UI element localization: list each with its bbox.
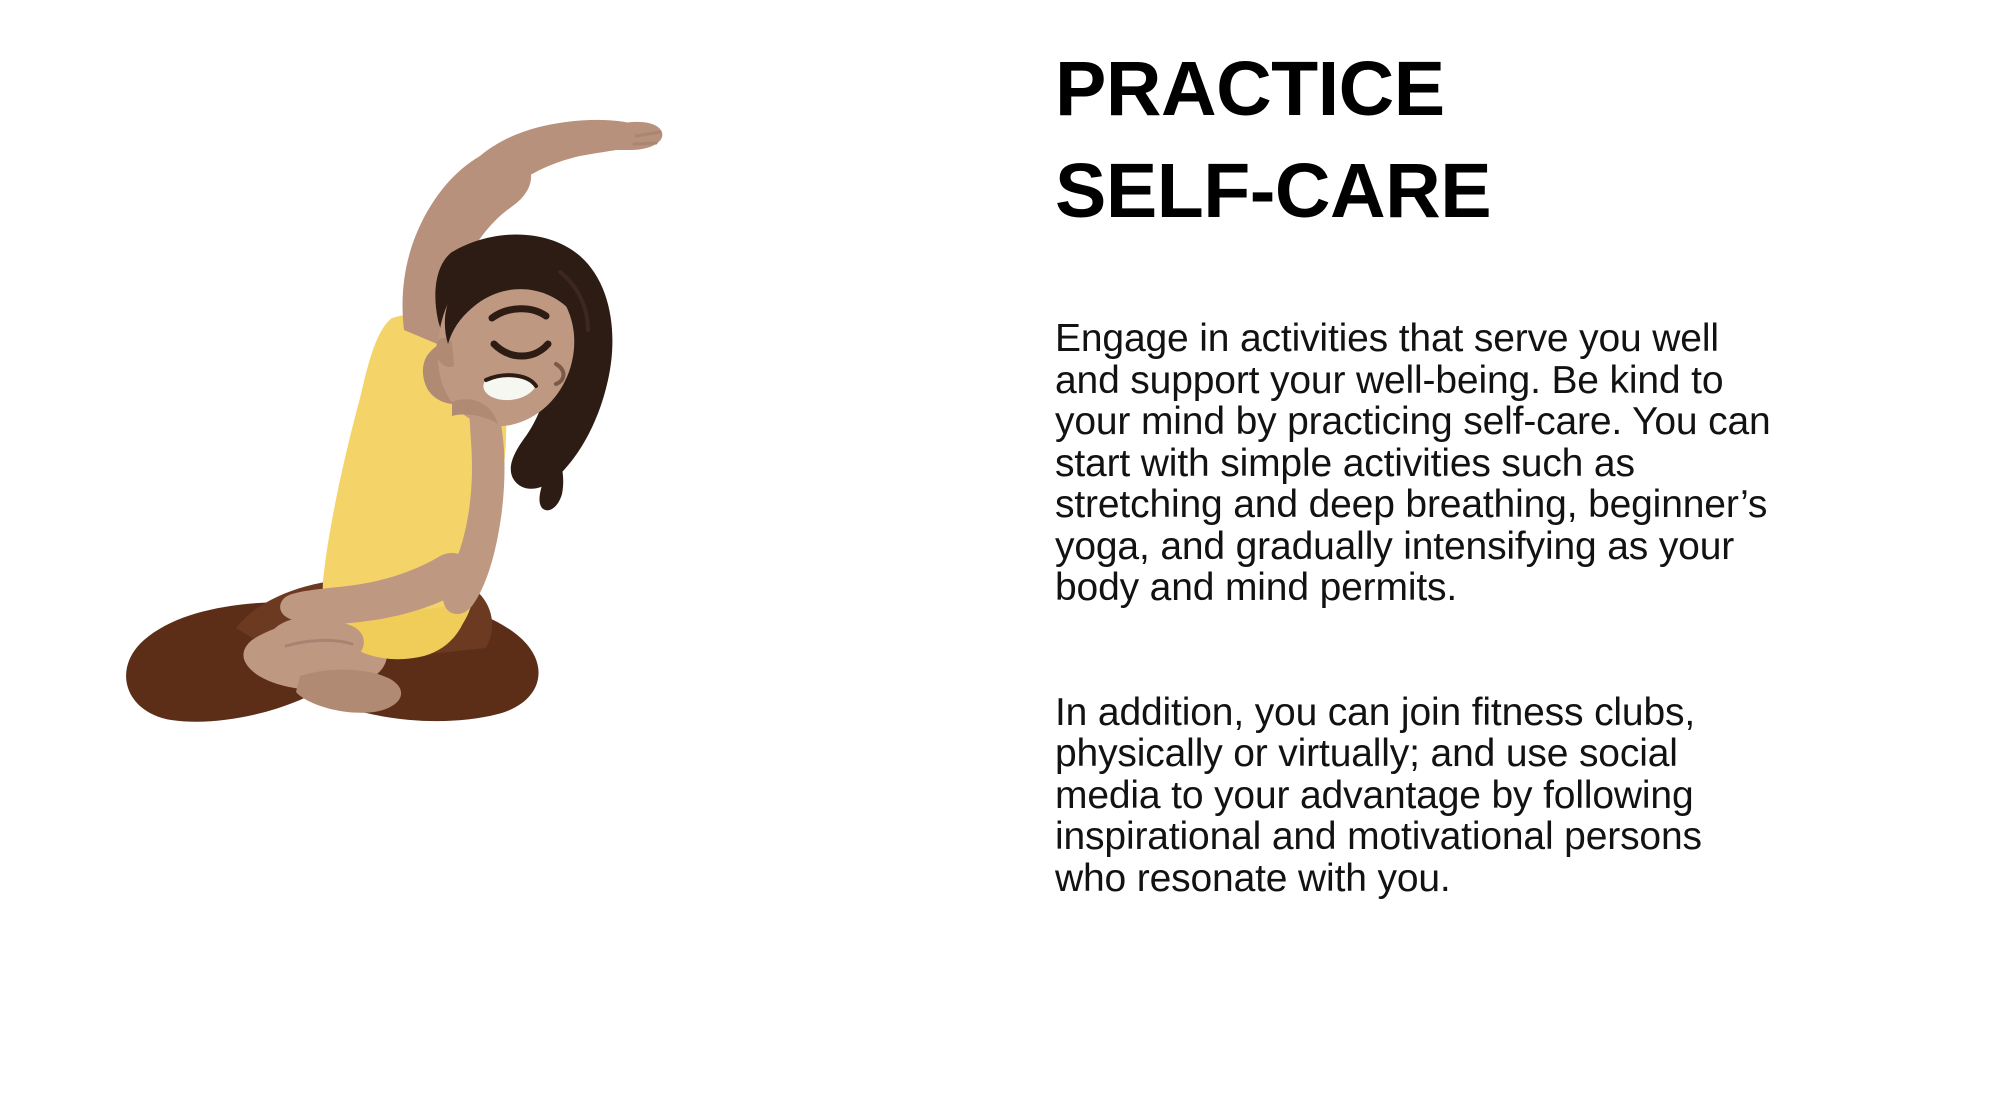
- finger-line-2: [634, 143, 656, 144]
- page-title: PRACTICE SELF-CARE: [1055, 38, 1935, 243]
- raised-arm-hand: [606, 122, 662, 150]
- illustration-panel: [0, 0, 1000, 1100]
- woman-yoga-stretch-illustration: [0, 0, 1000, 1100]
- slide-root: PRACTICE SELF-CARE Engage in activities …: [0, 0, 2000, 1100]
- paragraph-1: Engage in activities that serve you well…: [1055, 318, 1935, 609]
- text-panel: PRACTICE SELF-CARE Engage in activities …: [1055, 0, 1955, 1100]
- paragraph-2: In addition, you can join fitness clubs,…: [1055, 692, 1935, 900]
- body-copy: Engage in activities that serve you well…: [1055, 318, 1935, 899]
